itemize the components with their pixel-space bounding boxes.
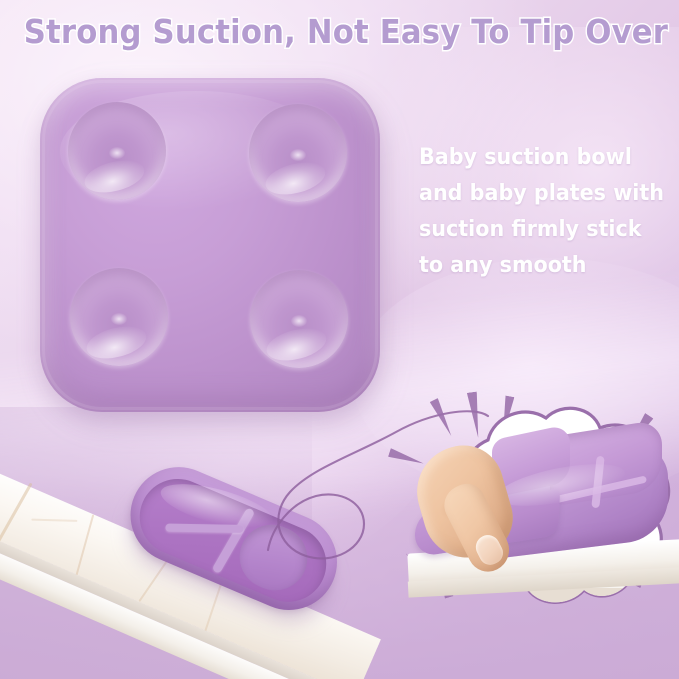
suction-cup-top-right: [249, 104, 347, 202]
suction-base-product: [40, 78, 390, 423]
suction-cup-highlight: [263, 323, 329, 366]
product-banner: Strong Suction, Not Easy To Tip Over Bab…: [0, 0, 679, 679]
body-copy-block: Baby suction bowl and baby plates with s…: [419, 140, 662, 284]
body-copy-line-3: suction firmly stick: [419, 212, 662, 248]
cloud-callout-bubble: [396, 392, 679, 679]
body-copy-line-2: and baby plates with: [419, 176, 662, 212]
headline-title: Strong Suction, Not Easy To Tip Over: [24, 12, 655, 52]
suction-cup-highlight: [81, 155, 147, 198]
suction-cup-top-left: [68, 102, 166, 200]
body-copy-line-4: to any smooth: [419, 248, 662, 284]
suction-cup-bottom-right: [250, 270, 348, 368]
body-copy-line-1: Baby suction bowl: [419, 140, 662, 176]
suction-cup-highlight: [83, 321, 149, 364]
suction-cup-highlight: [262, 157, 328, 200]
marble-vein: [0, 482, 32, 544]
suction-base-body: [40, 78, 380, 412]
thumb-nail: [472, 531, 507, 569]
marble-vein: [31, 519, 77, 522]
suction-cup-bottom-left: [70, 268, 168, 366]
marble-vein: [75, 514, 94, 576]
hand-lifting-plate: [414, 416, 532, 568]
